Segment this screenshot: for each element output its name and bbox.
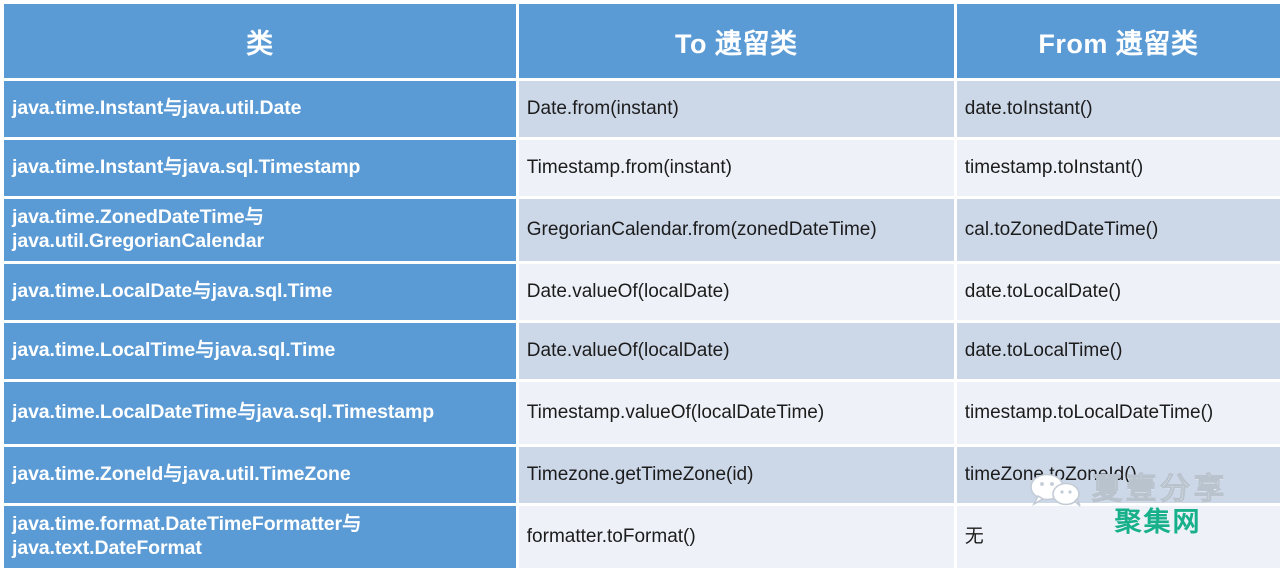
table-row: java.time.LocalTime与java.sql.Time Date.v… [4,323,1280,379]
cell-class: java.time.ZoneId与java.util.TimeZone [4,447,516,503]
cell-to-legacy: Timestamp.valueOf(localDateTime) [519,382,954,444]
cell-from-legacy: cal.toZonedDateTime() [957,199,1280,261]
cell-from-legacy: timestamp.toLocalDateTime() [957,382,1280,444]
table-header-row: 类 To 遗留类 From 遗留类 [4,4,1280,78]
table-row: java.time.format.DateTimeFormatter与java.… [4,506,1280,568]
cell-to-legacy: Timestamp.from(instant) [519,140,954,196]
table-row: java.time.ZoneId与java.util.TimeZone Time… [4,447,1280,503]
cell-from-legacy: date.toLocalTime() [957,323,1280,379]
cell-to-legacy: Timezone.getTimeZone(id) [519,447,954,503]
column-header-from-legacy-label: From 遗留类 [1038,22,1198,61]
cell-to-legacy: formatter.toFormat() [519,506,954,568]
cell-class: java.time.Instant与java.sql.Timestamp [4,140,516,196]
cell-to-legacy: Date.from(instant) [519,81,954,137]
column-header-from-legacy: From 遗留类 [957,4,1280,78]
cell-class: java.time.LocalTime与java.sql.Time [4,323,516,379]
cell-from-legacy: 无 [957,506,1280,568]
cell-class: java.time.ZonedDateTime与java.util.Gregor… [4,199,516,261]
cell-class: java.time.LocalDate与java.sql.Time [4,264,516,320]
cell-to-legacy: Date.valueOf(localDate) [519,323,954,379]
cell-class: java.time.format.DateTimeFormatter与java.… [4,506,516,568]
table-body: java.time.Instant与java.util.Date Date.fr… [4,81,1280,568]
cell-to-legacy: Date.valueOf(localDate) [519,264,954,320]
column-header-class-label: 类 [246,22,274,61]
cell-to-legacy: GregorianCalendar.from(zonedDateTime) [519,199,954,261]
column-header-class: 类 [4,4,516,78]
cell-from-legacy: date.toInstant() [957,81,1280,137]
table-row: java.time.Instant与java.util.Date Date.fr… [4,81,1280,137]
table-row: java.time.LocalDateTime与java.sql.Timesta… [4,382,1280,444]
table-row: java.time.ZonedDateTime与java.util.Gregor… [4,199,1280,261]
table-row: java.time.Instant与java.sql.Timestamp Tim… [4,140,1280,196]
table-row: java.time.LocalDate与java.sql.Time Date.v… [4,264,1280,320]
cell-from-legacy: date.toLocalDate() [957,264,1280,320]
legacy-conversion-table: 类 To 遗留类 From 遗留类 java.time.Instant与java… [0,0,1280,545]
column-header-to-legacy: To 遗留类 [519,4,954,78]
cell-class: java.time.LocalDateTime与java.sql.Timesta… [4,382,516,444]
cell-class: java.time.Instant与java.util.Date [4,81,516,137]
cell-from-legacy: timeZone.toZoneId() [957,447,1280,503]
cell-from-legacy: timestamp.toInstant() [957,140,1280,196]
column-header-to-legacy-label: To 遗留类 [675,22,797,61]
